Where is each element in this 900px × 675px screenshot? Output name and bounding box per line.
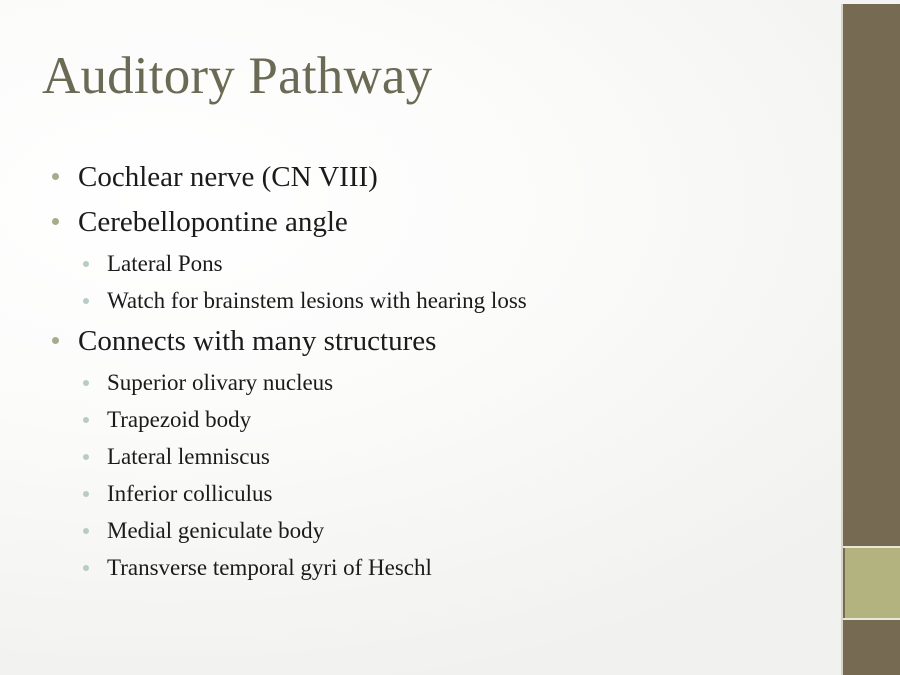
bullet-item-label: Cerebellopontine angle — [78, 200, 800, 245]
bullet-item-level2: Transverse temporal gyri of Heschl — [0, 549, 800, 586]
bullet-item-label: Lateral lemniscus — [107, 438, 800, 475]
bullet-item-level2: Lateral Pons — [0, 245, 800, 282]
bullet-item-label: Inferior colliculus — [107, 475, 800, 512]
bullet-item-level2: Lateral lemniscus — [0, 438, 800, 475]
bullet-item-label: Trapezoid body — [107, 401, 800, 438]
slide-canvas: Auditory Pathway Cochlear nerve (CN VIII… — [0, 0, 900, 675]
bullet-dot-icon — [83, 528, 89, 534]
bullet-item-level2: Inferior colliculus — [0, 475, 800, 512]
bullet-dot-icon — [83, 298, 89, 304]
bullet-dot-icon — [52, 337, 59, 344]
bullet-item-level1: Connects with many structures — [0, 319, 800, 364]
bullet-dot-icon — [52, 218, 59, 225]
bullet-item-label: Lateral Pons — [107, 245, 800, 282]
bullet-item-level2: Superior olivary nucleus — [0, 364, 800, 401]
bullet-dot-icon — [83, 565, 89, 571]
bullet-item-label: Medial geniculate body — [107, 512, 800, 549]
bullet-dot-icon — [83, 454, 89, 460]
bullet-item-level1: Cerebellopontine angle — [0, 200, 800, 245]
sidebar-band-bottom-divider — [843, 618, 900, 620]
slide-bullet-list: Cochlear nerve (CN VIII)Cerebellopontine… — [0, 155, 800, 586]
bullet-item-level2: Medial geniculate body — [0, 512, 800, 549]
bullet-item-label: Connects with many structures — [78, 319, 800, 364]
bullet-dot-icon — [83, 380, 89, 386]
bullet-item-level2: Trapezoid body — [0, 401, 800, 438]
bullet-dot-icon — [83, 417, 89, 423]
slide-title: Auditory Pathway — [42, 46, 432, 106]
bullet-item-level1: Cochlear nerve (CN VIII) — [0, 155, 800, 200]
bullet-dot-icon — [52, 173, 59, 180]
bullet-item-label: Transverse temporal gyri of Heschl — [107, 549, 800, 586]
bullet-item-label: Cochlear nerve (CN VIII) — [78, 155, 800, 200]
bullet-dot-icon — [83, 261, 89, 267]
bullet-item-level2: Watch for brainstem lesions with hearing… — [0, 282, 800, 319]
bullet-item-label: Superior olivary nucleus — [107, 364, 800, 401]
bullet-item-label: Watch for brainstem lesions with hearing… — [107, 282, 800, 319]
sidebar-accent-band — [845, 548, 900, 618]
bullet-dot-icon — [83, 491, 89, 497]
